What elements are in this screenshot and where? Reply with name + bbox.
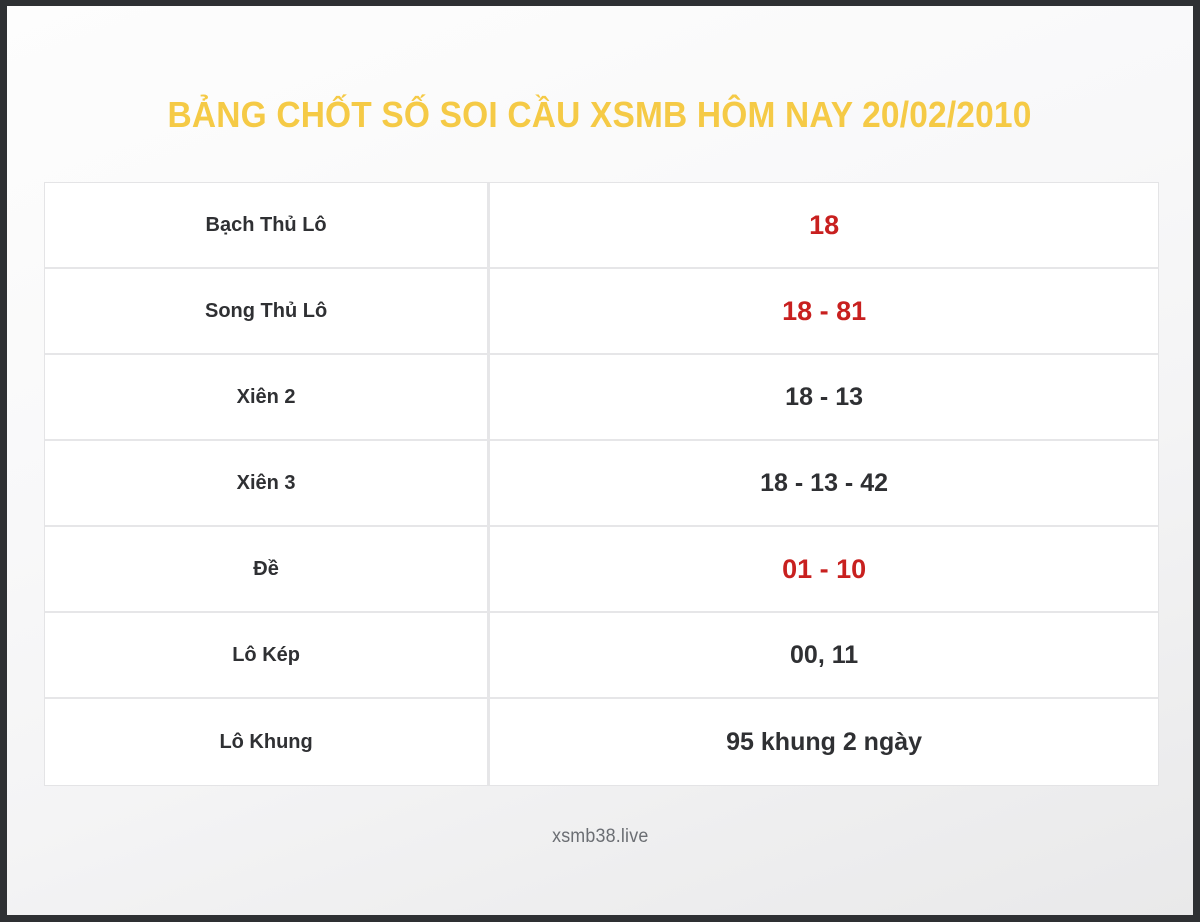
row-label-xien-2: Xiên 2 <box>45 355 490 441</box>
table-row: Song Thủ Lô 18 - 81 <box>45 269 1158 355</box>
table-row: Bạch Thủ Lô 18 <box>45 183 1158 269</box>
row-value-lo-khung: 95 khung 2 ngày <box>490 699 1158 785</box>
prediction-table: Bạch Thủ Lô 18 Song Thủ Lô 18 - 81 Xiên … <box>44 182 1159 786</box>
table-row: Xiên 2 18 - 13 <box>45 355 1158 441</box>
row-label-lo-khung: Lô Khung <box>45 699 490 785</box>
page-canvas: BẢNG CHỐT SỐ SOI CẦU XSMB HÔM NAY 20/02/… <box>7 6 1193 915</box>
row-value-xien-3: 18 - 13 - 42 <box>490 441 1158 527</box>
page-title: BẢNG CHỐT SỐ SOI CẦU XSMB HÔM NAY 20/02/… <box>168 94 1032 136</box>
prediction-table-container: Bạch Thủ Lô 18 Song Thủ Lô 18 - 81 Xiên … <box>44 182 1159 786</box>
row-value-bach-thu-lo: 18 <box>490 183 1158 269</box>
row-label-bach-thu-lo: Bạch Thủ Lô <box>45 183 490 269</box>
image-frame: BẢNG CHỐT SỐ SOI CẦU XSMB HÔM NAY 20/02/… <box>0 0 1200 922</box>
row-value-lo-kep: 00, 11 <box>490 613 1158 699</box>
table-row: Lô Khung 95 khung 2 ngày <box>45 699 1158 785</box>
table-row: Lô Kép 00, 11 <box>45 613 1158 699</box>
site-watermark: xsmb38.live <box>552 826 648 848</box>
row-value-xien-2: 18 - 13 <box>490 355 1158 441</box>
table-row: Đề 01 - 10 <box>45 527 1158 613</box>
row-label-xien-3: Xiên 3 <box>45 441 490 527</box>
row-label-de: Đề <box>45 527 490 613</box>
table-row: Xiên 3 18 - 13 - 42 <box>45 441 1158 527</box>
row-label-song-thu-lo: Song Thủ Lô <box>45 269 490 355</box>
prediction-table-body: Bạch Thủ Lô 18 Song Thủ Lô 18 - 81 Xiên … <box>45 183 1158 785</box>
page-title-container: BẢNG CHỐT SỐ SOI CẦU XSMB HÔM NAY 20/02/… <box>7 94 1193 136</box>
row-label-lo-kep: Lô Kép <box>45 613 490 699</box>
footer: xsmb38.live <box>7 826 1193 848</box>
row-value-song-thu-lo: 18 - 81 <box>490 269 1158 355</box>
row-value-de: 01 - 10 <box>490 527 1158 613</box>
